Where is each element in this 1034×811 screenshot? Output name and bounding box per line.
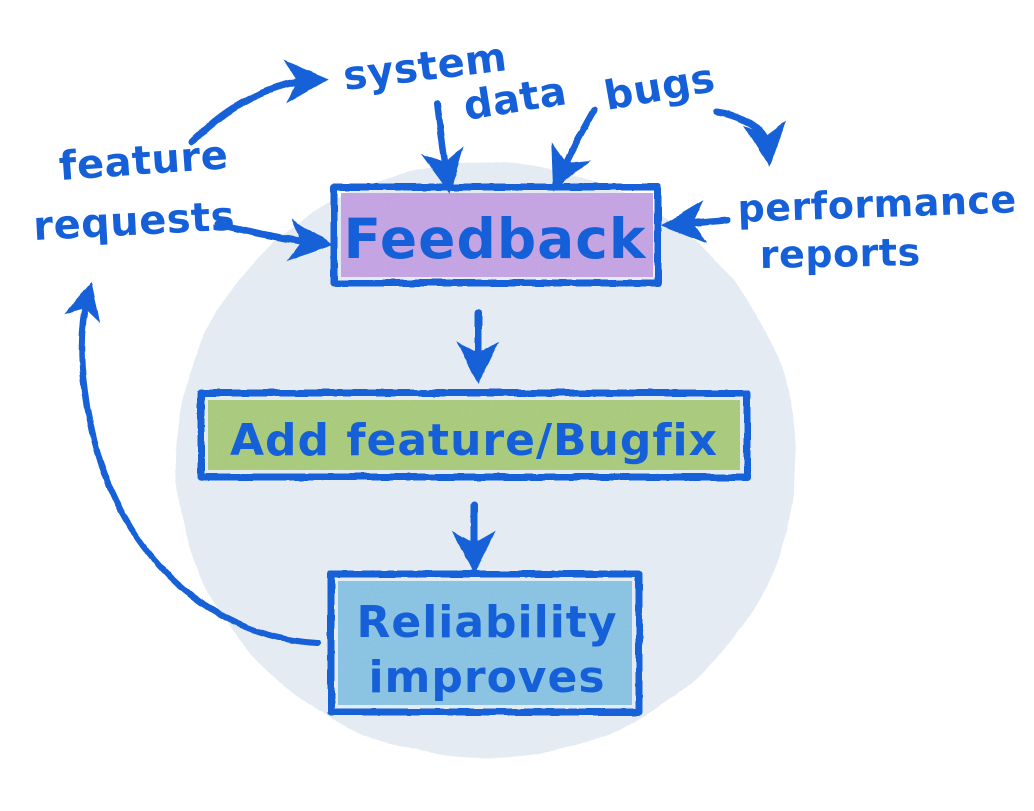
label-feature-requests: feature requests bbox=[32, 132, 236, 250]
reliability-label-line2: improves bbox=[368, 652, 605, 703]
label-performance-reports: performance reports bbox=[737, 177, 1018, 277]
label-bugs: bugs bbox=[601, 55, 719, 120]
diagram-canvas: Feedback Add feature/Bugfix Reliability … bbox=[0, 0, 1034, 811]
add-feature-label: Add feature/Bugfix bbox=[230, 415, 718, 466]
node-add-feature[interactable]: Add feature/Bugfix bbox=[201, 393, 747, 477]
bugs-line1: bugs bbox=[601, 55, 719, 120]
edge-bugs-to-feedback bbox=[560, 110, 594, 176]
edge-curve-bugs-to-performance bbox=[717, 112, 768, 150]
node-feedback[interactable]: Feedback bbox=[334, 187, 658, 283]
performance-reports-line1: performance bbox=[737, 177, 1018, 231]
reliability-label-line1: Reliability bbox=[356, 597, 617, 648]
feature-requests-line1: feature bbox=[57, 132, 229, 190]
feedback-label: Feedback bbox=[344, 207, 647, 271]
label-system-data: system data bbox=[341, 34, 570, 130]
edge-performance-reports-to-feedback bbox=[678, 220, 727, 224]
node-reliability[interactable]: Reliability improves bbox=[331, 574, 639, 712]
feature-requests-line2: requests bbox=[32, 193, 236, 250]
feedback-loop-diagram: Feedback Add feature/Bugfix Reliability … bbox=[0, 0, 1034, 811]
performance-reports-line2: reports bbox=[759, 230, 921, 277]
